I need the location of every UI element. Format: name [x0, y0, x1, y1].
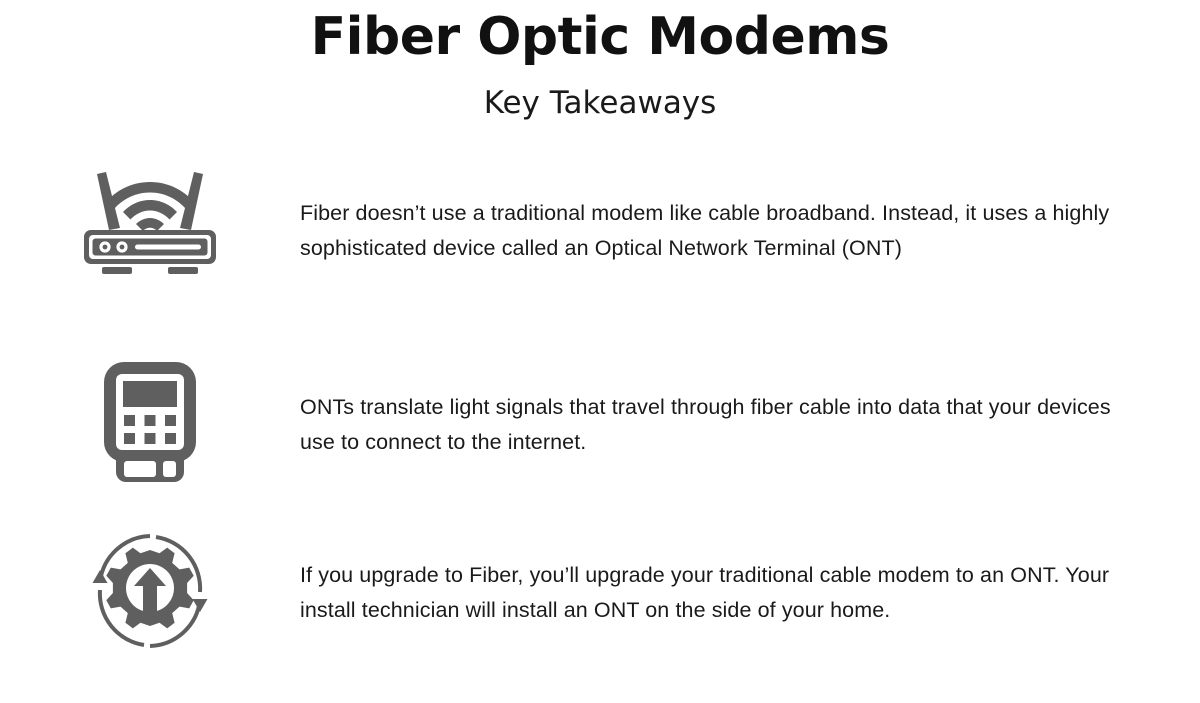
- takeaways-list: Fiber doesn’t use a traditional modem li…: [0, 160, 1200, 694]
- slide-header: Fiber Optic Modems Key Takeaways: [0, 0, 1200, 122]
- slide: Fiber Optic Modems Key Takeaways: [0, 0, 1200, 703]
- gear-upgrade-cycle-icon: [82, 528, 218, 654]
- takeaway-icon-1: [0, 160, 300, 278]
- list-item: ONTs translate light signals that travel…: [0, 338, 1200, 516]
- takeaway-icon-2: [0, 338, 300, 486]
- takeaway-text-3: If you upgrade to Fiber, you’ll upgrade …: [300, 516, 1130, 628]
- terminal-device-icon: [98, 360, 202, 486]
- takeaway-text-2: ONTs translate light signals that travel…: [300, 338, 1130, 460]
- takeaway-paragraph: Fiber doesn’t use a traditional modem li…: [300, 196, 1130, 266]
- takeaway-icon-3: [0, 516, 300, 654]
- takeaway-text-1: Fiber doesn’t use a traditional modem li…: [300, 160, 1130, 266]
- list-item: Fiber doesn’t use a traditional modem li…: [0, 160, 1200, 338]
- wifi-router-icon: [75, 168, 225, 278]
- takeaway-paragraph: ONTs translate light signals that travel…: [300, 390, 1130, 460]
- page-subtitle: Key Takeaways: [0, 85, 1200, 122]
- page-title: Fiber Optic Modems: [0, 8, 1200, 67]
- list-item: If you upgrade to Fiber, you’ll upgrade …: [0, 516, 1200, 694]
- takeaway-paragraph: If you upgrade to Fiber, you’ll upgrade …: [300, 558, 1130, 628]
